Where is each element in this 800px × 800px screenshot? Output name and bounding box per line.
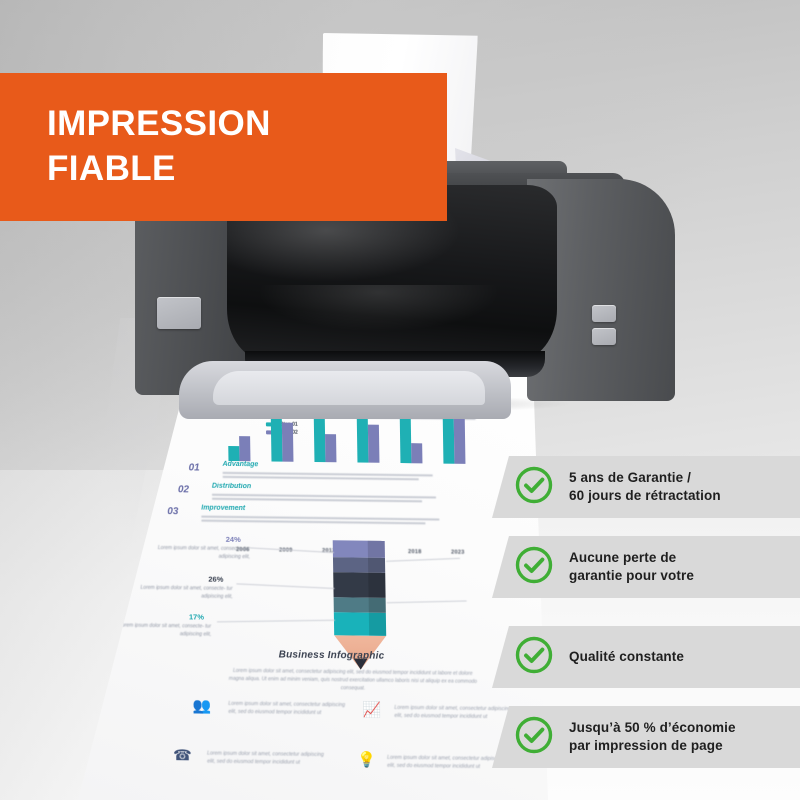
clock-phone-icon: ☎	[173, 748, 192, 763]
bar-step-02	[282, 423, 294, 462]
list-number: 03	[167, 506, 178, 517]
bar-step-01	[314, 416, 326, 462]
footer-text-3: Lorem ipsum dolor sit amet, consectetur …	[207, 750, 325, 768]
bar-step-01	[400, 412, 412, 463]
segment-shade	[368, 558, 385, 573]
footer-text-2: Lorem ipsum dolor sit amet, consectetur …	[394, 704, 512, 722]
list-number: 02	[178, 484, 189, 495]
callout-line-1: 5 ans de Garantie /	[569, 469, 721, 487]
list-heading: Distribution	[212, 483, 251, 490]
list-text-line	[223, 476, 419, 480]
callout-line-2: par impression de page	[569, 737, 736, 755]
bar-x-tick-label: 2023	[441, 550, 475, 556]
footer-text-4: Lorem ipsum dolor sit amet, consectetur …	[387, 754, 505, 772]
bar-x-tick-label: 2018	[398, 549, 432, 555]
segment-shade	[369, 598, 386, 613]
segment-shade	[369, 613, 386, 636]
funnel-text-3: Lorem ipsum dolor sit amet, consecte- tu…	[119, 623, 211, 639]
funnel-segment	[333, 557, 385, 573]
list-text-line	[212, 498, 422, 502]
funnel-text-1: Lorem ipsum dolor sit amet, consecte- tu…	[158, 545, 250, 561]
funnel-text-2: Lorem ipsum dolor sit amet, consecte- tu…	[140, 585, 232, 601]
headline-line-2: FIABLE	[47, 147, 447, 192]
feature-callout[interactable]: 5 ans de Garantie /60 jours de rétractat…	[492, 456, 800, 518]
callout-label: 5 ans de Garantie /60 jours de rétractat…	[569, 469, 721, 505]
leader-line	[387, 600, 467, 603]
bar-step-02	[239, 436, 250, 461]
segment-shade	[368, 573, 385, 598]
funnel-segment	[334, 612, 386, 636]
leader-line	[386, 558, 460, 562]
printer-button-right-bottom[interactable]	[592, 328, 616, 345]
headline-banner: IMPRESSION FIABLE	[0, 73, 447, 221]
check-icon-wrap	[514, 545, 554, 590]
callout-line-1: Jusqu’à 50 % d’économie	[569, 719, 736, 737]
funnel-segment	[334, 597, 386, 613]
feature-callout[interactable]: Aucune perte degarantie pour votre	[492, 536, 800, 598]
funnel-percent-1: 24%	[226, 535, 241, 544]
callout-line-1: Qualité constante	[569, 648, 684, 666]
callout-line-2: garantie pour votre	[569, 567, 694, 585]
segment-shade	[368, 541, 385, 558]
callout-line-1: Aucune perte de	[569, 549, 694, 567]
feature-callout[interactable]: Qualité constante	[492, 626, 800, 688]
feature-callout[interactable]: Jusqu’à 50 % d’économiepar impression de…	[492, 706, 800, 768]
printer-drum-gloss	[247, 285, 533, 347]
footer-text-1: Lorem ipsum dolor sit amet, consectetur …	[228, 700, 346, 718]
list-text-line	[201, 520, 425, 524]
business-infographic-body: Lorem ipsum dolor sit amet, consectetur …	[228, 667, 478, 694]
check-icon-wrap	[514, 465, 554, 510]
growth-chart-icon: 📈	[362, 703, 381, 718]
bar-step-02	[368, 425, 380, 463]
printer-output-tray-inner	[213, 371, 485, 405]
leader-line	[217, 620, 335, 623]
numbered-list-item: 03Improvement	[167, 502, 449, 527]
check-circle-icon	[514, 545, 554, 585]
list-heading: Advantage	[222, 461, 258, 468]
business-infographic-title: Business Infographic	[231, 649, 431, 662]
numbered-list-item: 01Advantage	[188, 458, 448, 483]
callout-label: Jusqu’à 50 % d’économiepar impression de…	[569, 719, 736, 755]
check-circle-icon	[514, 465, 554, 505]
printer-button-left[interactable]	[157, 297, 201, 329]
lightbulb-icon: 💡	[357, 753, 376, 768]
funnel-segment	[333, 572, 385, 598]
people-group-icon: 👥	[192, 699, 211, 714]
image-canvas: Banner Infographics 35% 37% Step 01 Step…	[0, 0, 800, 800]
bar-step-02	[325, 434, 336, 462]
list-heading: Improvement	[201, 505, 245, 513]
callout-label: Qualité constante	[569, 648, 684, 666]
funnel-segment	[333, 540, 385, 558]
check-circle-icon	[514, 715, 554, 755]
funnel-percent-3: 17%	[189, 612, 204, 621]
callout-line-2: 60 jours de rétractation	[569, 487, 721, 505]
printer-button-right-top[interactable]	[592, 305, 616, 322]
leader-line	[236, 583, 334, 589]
check-icon-wrap	[514, 715, 554, 760]
numbered-list: 01Advantage02Distribution03Improvement	[188, 458, 449, 527]
funnel-percent-2: 26%	[208, 575, 223, 584]
check-icon-wrap	[514, 635, 554, 680]
callout-label: Aucune perte degarantie pour votre	[569, 549, 694, 585]
check-circle-icon	[514, 635, 554, 675]
headline-line-1: IMPRESSION	[47, 102, 447, 147]
list-number: 01	[189, 462, 200, 473]
